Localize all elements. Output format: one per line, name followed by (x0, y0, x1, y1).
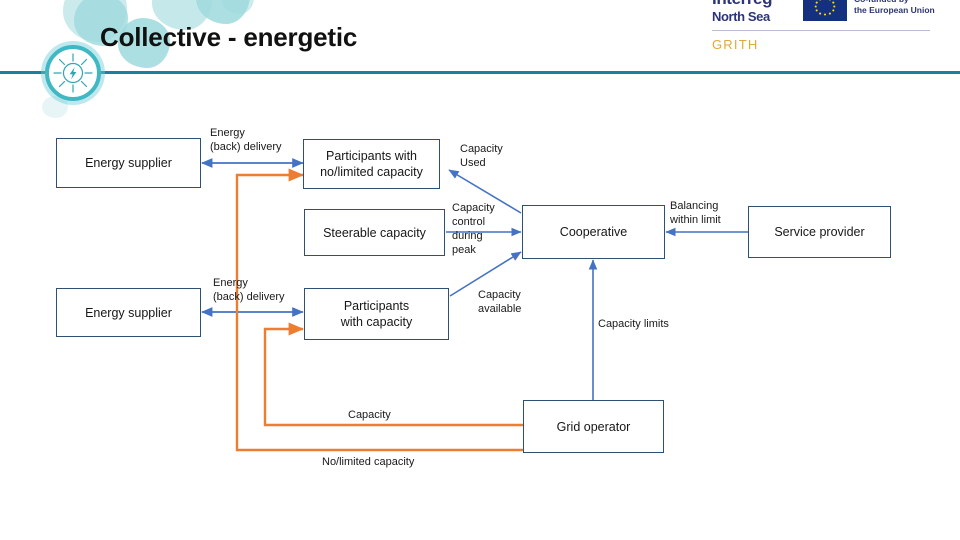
node-grid-operator[interactable]: Grid operator (523, 400, 664, 453)
eu-funding-line2: the European Union (854, 5, 935, 16)
project-name: GRITH (712, 37, 758, 52)
node-energy-supplier-top[interactable]: Energy supplier (56, 138, 201, 188)
node-energy-supplier-bottom[interactable]: Energy supplier (56, 288, 201, 337)
interreg-wordmark: Interreg (712, 0, 772, 8)
logo-block: Interreg North Sea Co-funded by the Euro… (712, 0, 944, 62)
node-service-provider[interactable]: Service provider (748, 206, 891, 258)
node-participants-with-capacity[interactable]: Participants with capacity (304, 288, 449, 340)
edge-label-no-limited-capacity: No/limited capacity (322, 455, 414, 469)
diagram-connectors (0, 0, 960, 540)
edge-label-capacity-used: Capacity Used (460, 142, 503, 170)
sun-lightning-icon (45, 45, 101, 101)
interreg-programme: North Sea (712, 9, 772, 24)
edge-label-capacity-limits: Capacity limits (598, 317, 669, 331)
edge-label-energy-back-delivery-bottom: Energy (back) delivery (213, 276, 285, 304)
node-participants-no-capacity[interactable]: Participants with no/limited capacity (303, 139, 440, 189)
edge-label-capacity-control-during-peak: Capacity control during peak (452, 201, 495, 257)
node-steerable-capacity[interactable]: Steerable capacity (304, 209, 445, 256)
edge-label-capacity: Capacity (348, 408, 391, 422)
page-title: Collective - energetic (100, 22, 357, 53)
logo-divider (712, 30, 930, 31)
eu-funding-text: Co-funded by the European Union (854, 0, 935, 16)
eu-flag-icon (803, 0, 847, 21)
edge-label-balancing-within-limit: Balancing within limit (670, 199, 721, 227)
edge-label-capacity-available: Capacity available (478, 288, 521, 316)
node-cooperative[interactable]: Cooperative (522, 205, 665, 259)
slide-canvas: Collective - energetic Interreg North Se… (0, 0, 960, 540)
interreg-logo: Interreg North Sea (712, 0, 772, 24)
edge-label-energy-back-delivery-top: Energy (back) delivery (210, 126, 282, 154)
header-divider (0, 71, 960, 74)
